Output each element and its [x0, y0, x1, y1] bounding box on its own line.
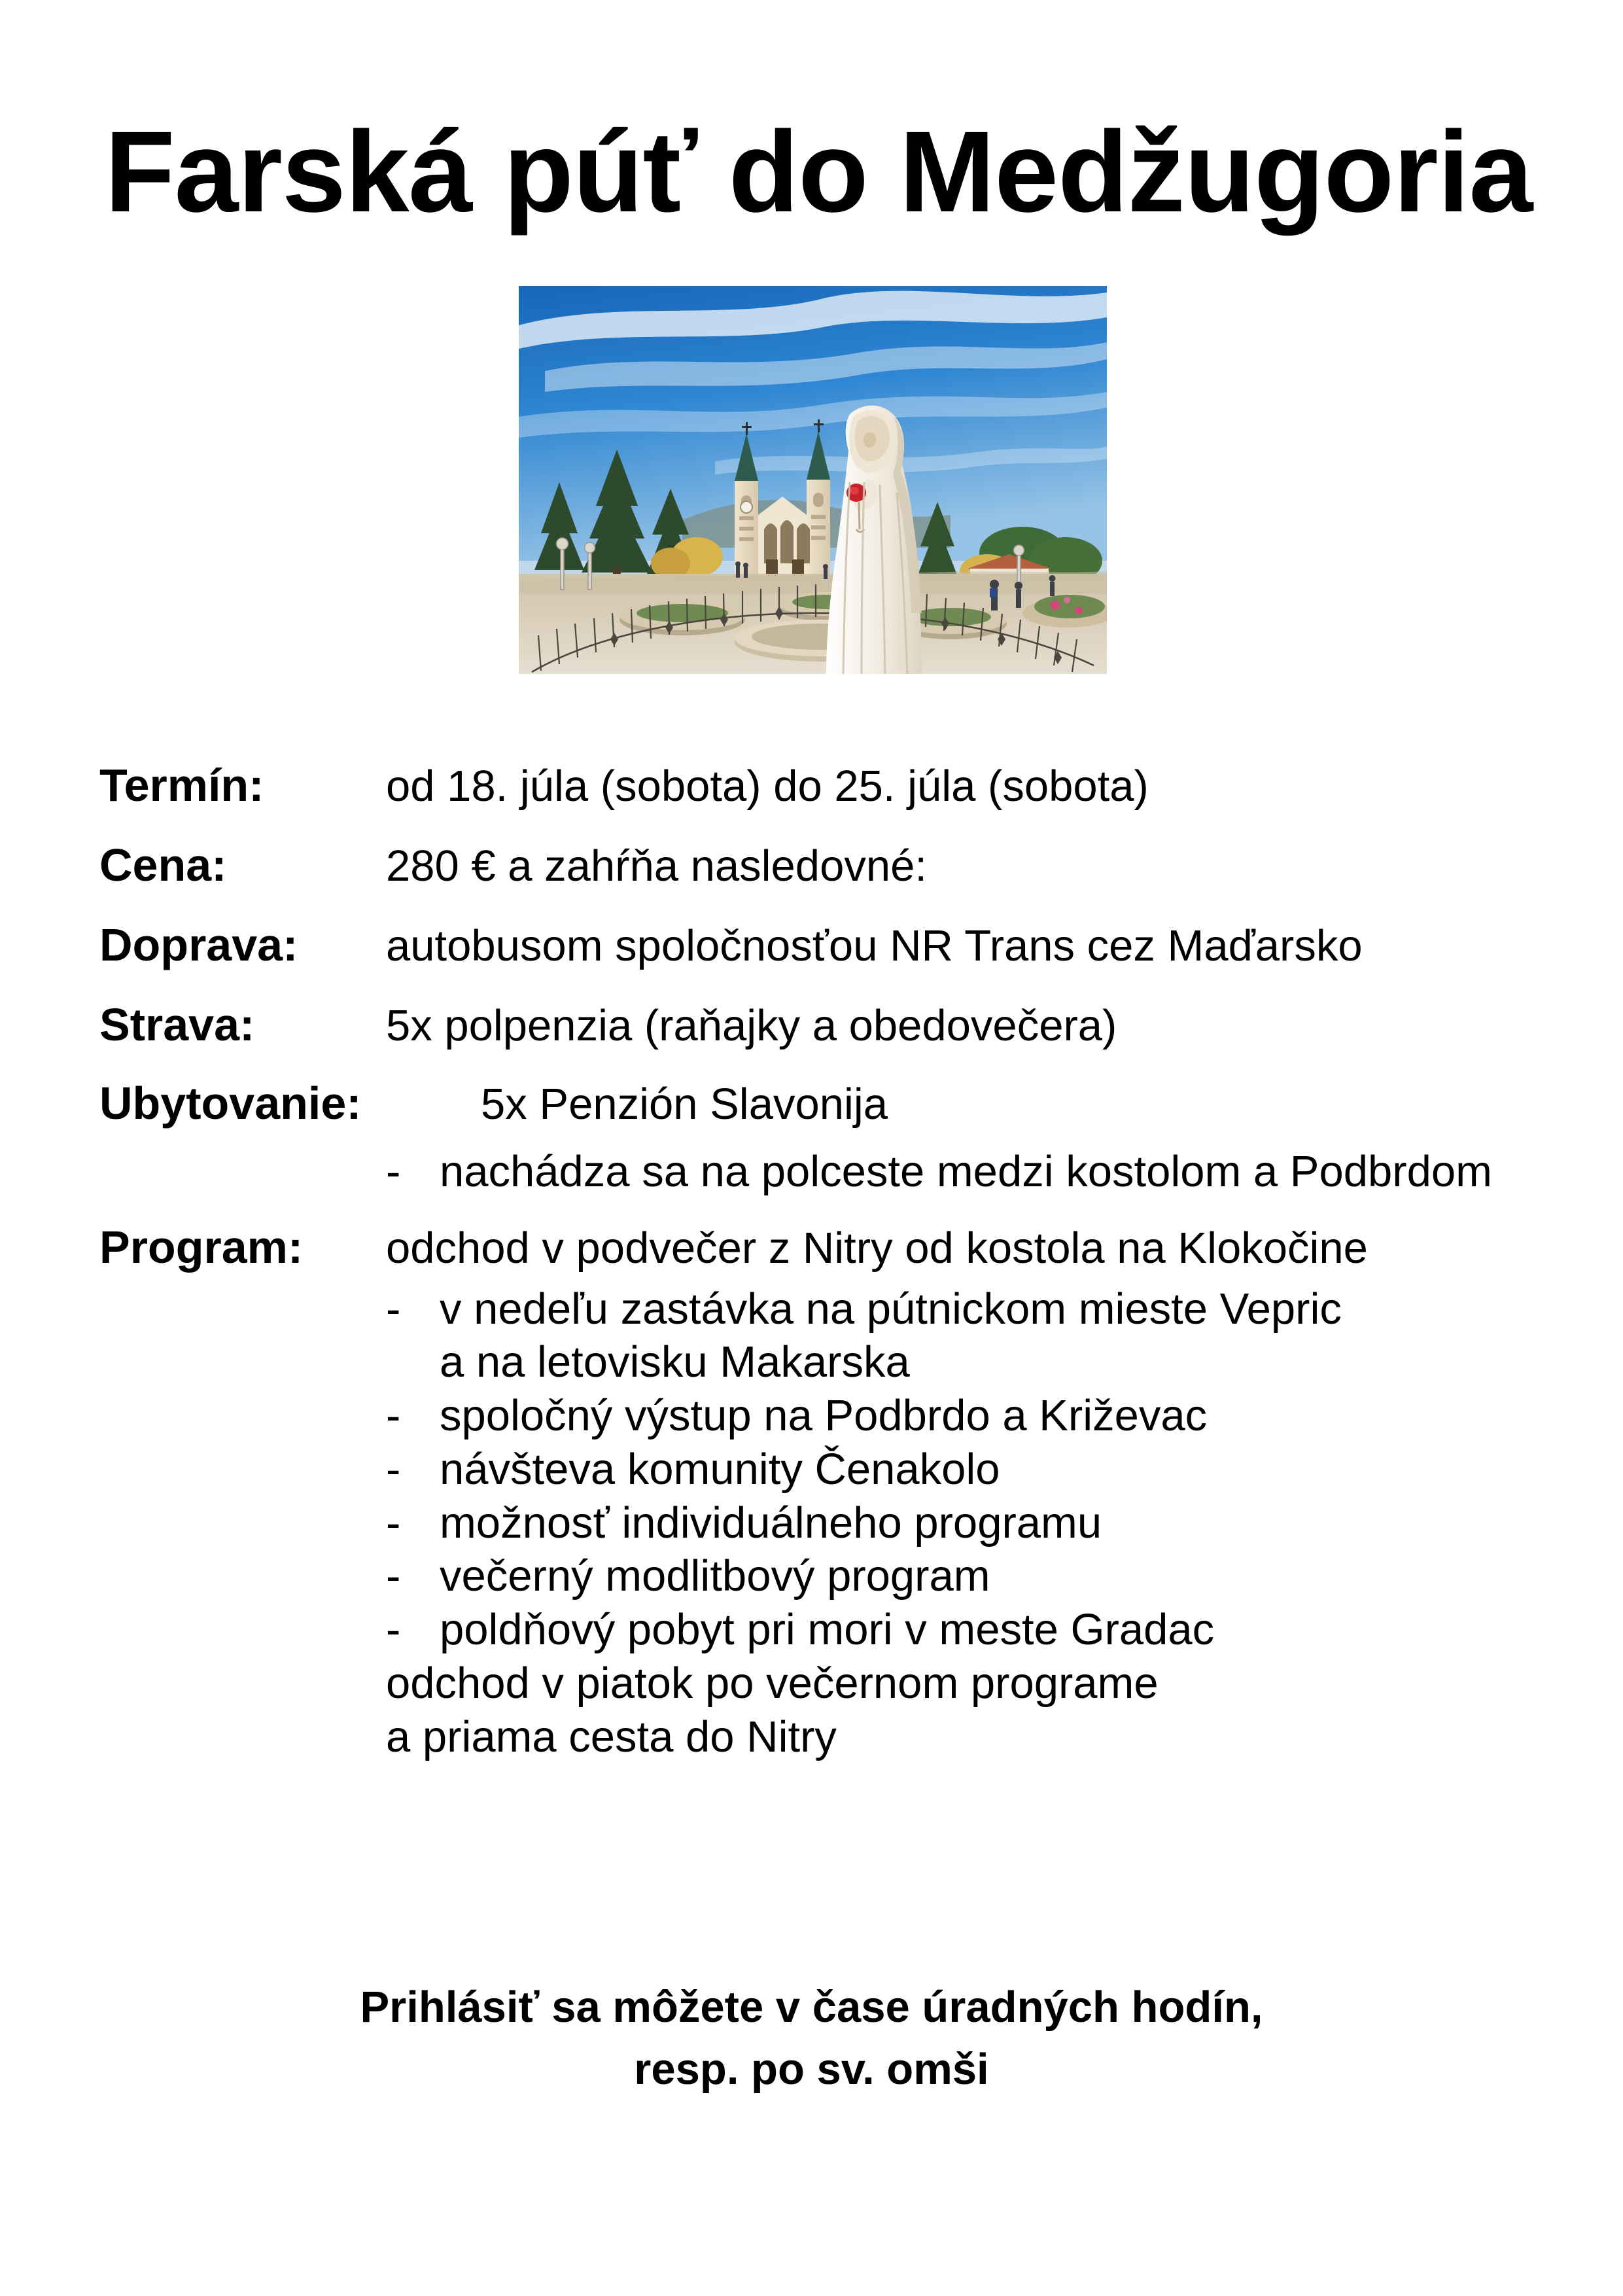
row-ubytovanie: Ubytovanie: 5x Penzión Slavonija [0, 1077, 1623, 1129]
page-title: Farská púť do Medžugoria [105, 110, 1532, 234]
signup-note: Prihlásiť sa môžete v čase úradných hodí… [0, 1976, 1623, 2100]
label-termin: Termín: [0, 759, 386, 811]
bullet-dash-icon: - [386, 1496, 440, 1550]
photo-illustration [519, 286, 1107, 674]
bullet-dash-icon: - [386, 1145, 440, 1199]
ubytovanie-bullets: - nachádza sa na polceste medzi kostolom… [0, 1145, 1623, 1199]
row-termin: Termín: od 18. júla (sobota) do 25. júla… [0, 759, 1623, 811]
bullet-continuation-text: a na letovisku Makarska [0, 1335, 1623, 1389]
label-strava: Strava: [0, 998, 386, 1051]
signup-note-line-1: Prihlásiť sa môžete v čase úradných hodí… [0, 1976, 1623, 2038]
list-item: - v nedeľu zastávka na pútnickom mieste … [0, 1282, 1623, 1336]
details-block: Termín: od 18. júla (sobota) do 25. júla… [0, 759, 1623, 1763]
value-program: odchod v podvečer z Nitry od kostola na … [386, 1223, 1368, 1273]
bullet-text: poldňový pobyt pri mori v meste Gradac [440, 1603, 1214, 1657]
bullet-dash-icon: - [386, 1443, 440, 1496]
signup-note-line-2: resp. po sv. omši [0, 2038, 1623, 2100]
spacer [0, 1199, 1623, 1221]
list-item: - večerný modlitbový program [0, 1549, 1623, 1603]
bullet-text: večerný modlitbový program [440, 1549, 990, 1603]
list-item: - nachádza sa na polceste medzi kostolom… [0, 1145, 1623, 1199]
row-strava: Strava: 5x polpenzia (raňajky a obedoveč… [0, 998, 1623, 1051]
bullet-text: v nedeľu zastávka na pútnickom mieste Ve… [440, 1282, 1342, 1336]
row-doprava: Doprava: autobusom spoločnosťou NR Trans… [0, 919, 1623, 971]
row-cena: Cena: 280 € a zahŕňa nasledovné: [0, 839, 1623, 891]
medjugorje-photo [519, 286, 1107, 674]
list-item: - spoločný výstup na Podbrdo a Križevac [0, 1389, 1623, 1443]
bullet-text: spoločný výstup na Podbrdo a Križevac [440, 1389, 1207, 1443]
value-doprava: autobusom spoločnosťou NR Trans cez Maďa… [386, 921, 1363, 971]
label-ubytovanie: Ubytovanie: [0, 1077, 481, 1129]
label-program: Program: [0, 1221, 386, 1273]
program-bullets: - v nedeľu zastávka na pútnickom mieste … [0, 1282, 1623, 1657]
label-doprava: Doprava: [0, 919, 386, 971]
list-item: - možnosť individuálneho programu [0, 1496, 1623, 1550]
label-cena: Cena: [0, 839, 386, 891]
value-termin: od 18. júla (sobota) do 25. júla (sobota… [386, 761, 1149, 811]
bullet-text: návšteva komunity Čenakolo [440, 1443, 1000, 1496]
row-program: Program: odchod v podvečer z Nitry od ko… [0, 1221, 1623, 1273]
value-strava: 5x polpenzia (raňajky a obedovečera) [386, 1000, 1117, 1051]
bullet-text: možnosť individuálneho programu [440, 1496, 1102, 1550]
value-ubytovanie: 5x Penzión Slavonija [481, 1079, 888, 1129]
program-closing-line-2: a priama cesta do Nitry [0, 1710, 1623, 1764]
bullet-dash-icon: - [386, 1389, 440, 1443]
program-closing-line-1: odchod v piatok po večernom programe [0, 1657, 1623, 1710]
list-item: - návšteva komunity Čenakolo [0, 1443, 1623, 1496]
value-cena: 280 € a zahŕňa nasledovné: [386, 841, 927, 891]
bullet-dash-icon: - [386, 1282, 440, 1336]
bullet-text: nachádza sa na polceste medzi kostolom a… [440, 1145, 1492, 1199]
poster-page: Farská púť do Medžugoria [0, 0, 1623, 2296]
bullet-dash-icon: - [386, 1603, 440, 1657]
list-item: - poldňový pobyt pri mori v meste Gradac [0, 1603, 1623, 1657]
bullet-dash-icon: - [386, 1549, 440, 1603]
